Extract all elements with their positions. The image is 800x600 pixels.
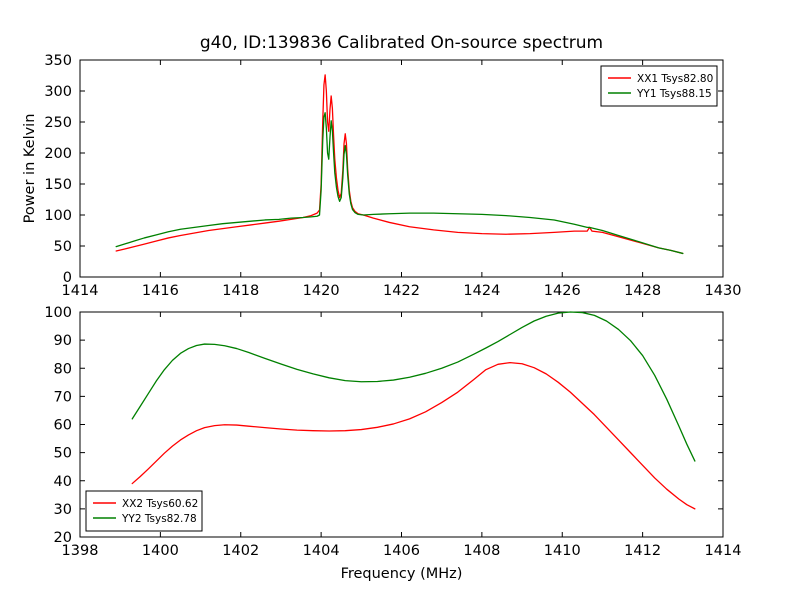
x-tick-label: 1410 <box>544 543 581 559</box>
legend-label: XX2 Tsys60.62 <box>122 498 198 510</box>
y-tick-label: 70 <box>54 389 72 405</box>
y-tick-label: 40 <box>54 474 72 490</box>
y-tick-label: 0 <box>63 270 72 286</box>
y-axis-label: Power in Kelvin <box>22 114 38 224</box>
x-tick-label: 1424 <box>463 283 500 299</box>
y-tick-label: 90 <box>54 333 72 349</box>
x-tick-label: 1412 <box>624 543 661 559</box>
x-tick-label: 1408 <box>463 543 500 559</box>
y-tick-label: 60 <box>54 418 72 434</box>
x-tick-label: 1400 <box>142 543 179 559</box>
x-tick-label: 1422 <box>383 283 420 299</box>
x-tick-label: 1416 <box>142 283 179 299</box>
legend-bottom-panel: XX2 Tsys60.62YY2 Tsys82.78 <box>86 491 202 531</box>
y-tick-label: 20 <box>54 530 72 546</box>
legend-label: XX1 Tsys82.80 <box>637 73 713 85</box>
x-tick-label: 1418 <box>222 283 259 299</box>
y-tick-label: 30 <box>54 502 72 518</box>
y-tick-label: 80 <box>54 361 72 377</box>
x-tick-label: 1426 <box>544 283 581 299</box>
y-tick-label: 50 <box>54 446 72 462</box>
x-axis-label: Frequency (MHz) <box>341 566 463 582</box>
y-tick-label: 150 <box>44 177 72 193</box>
axes-bottom-panel: 1398140014021404140614081410141214142030… <box>44 305 741 582</box>
y-tick-label: 100 <box>44 208 72 224</box>
series-line-0 <box>132 363 695 509</box>
series-line-1 <box>132 312 695 461</box>
y-tick-label: 200 <box>44 146 72 162</box>
y-tick-label: 100 <box>44 305 72 321</box>
y-tick-label: 300 <box>44 84 72 100</box>
axes-top-panel: g40, ID:139836 Calibrated On-source spec… <box>22 33 741 299</box>
y-tick-label: 50 <box>54 239 72 255</box>
x-tick-label: 1430 <box>705 283 742 299</box>
x-tick-label: 1414 <box>705 543 742 559</box>
y-tick-label: 350 <box>44 53 72 69</box>
legend-label: YY1 Tsys88.15 <box>636 88 712 100</box>
x-tick-label: 1428 <box>624 283 661 299</box>
figure-canvas: g40, ID:139836 Calibrated On-source spec… <box>0 0 800 600</box>
y-tick-label: 250 <box>44 115 72 131</box>
x-tick-label: 1402 <box>222 543 259 559</box>
plot-title: g40, ID:139836 Calibrated On-source spec… <box>200 33 603 53</box>
x-tick-label: 1406 <box>383 543 420 559</box>
legend-label: YY2 Tsys82.78 <box>121 513 197 525</box>
legend-frame <box>601 66 717 106</box>
legend-top-panel: XX1 Tsys82.80YY1 Tsys88.15 <box>601 66 717 106</box>
legend-frame <box>86 491 202 531</box>
matplotlib-figure: g40, ID:139836 Calibrated On-source spec… <box>0 0 800 600</box>
x-tick-label: 1404 <box>303 543 340 559</box>
x-tick-label: 1420 <box>303 283 340 299</box>
